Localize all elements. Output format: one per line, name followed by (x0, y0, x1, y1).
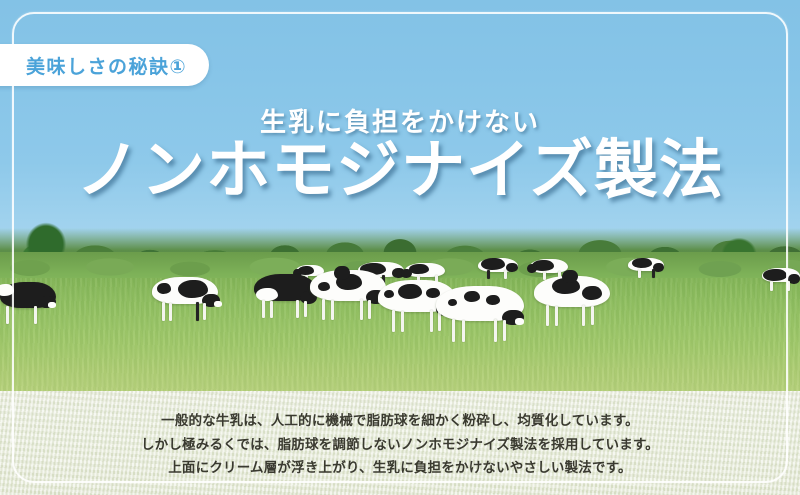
cow-patch (409, 264, 429, 274)
cow-leg (296, 300, 299, 318)
cow-leg (203, 303, 206, 320)
cow-snout (515, 318, 524, 325)
cow-leg (6, 306, 9, 324)
cow (628, 258, 664, 279)
cow-head (506, 263, 518, 272)
caption-line-2: しかし極みるくでは、脂肪球を調節しないノンホモジナイズ製法を採用しています。 (141, 435, 659, 456)
cow-leg (322, 299, 325, 320)
cow-leg (331, 300, 334, 320)
cow-leg (652, 269, 655, 278)
caption-line-1: 一般的な牛乳は、人工的に機械で脂肪球を細かく粉砕し、均質化しています。 (161, 411, 639, 432)
cow-patch (582, 286, 602, 300)
cow-leg (360, 299, 363, 320)
cow-leg (262, 300, 265, 318)
cow-leg (555, 306, 558, 326)
cow-patch (157, 283, 171, 294)
cow (436, 286, 524, 342)
cow-leg (162, 302, 165, 321)
secret-badge: 美味しさの秘訣① (0, 44, 209, 86)
cow-leg (452, 319, 455, 342)
cow-leg (169, 303, 172, 321)
cow-snout (48, 302, 56, 308)
cow (762, 268, 800, 291)
cow (534, 276, 610, 326)
cow-patch (256, 288, 278, 301)
cow-patch (448, 299, 457, 306)
cow-head (401, 269, 412, 278)
promo-banner: 一般的な牛乳は、人工的に機械で脂肪球を細かく粉砕し、均質化しています。 しかし極… (0, 0, 800, 495)
cow-leg (503, 320, 506, 341)
caption-panel: 一般的な牛乳は、人工的に機械で脂肪球を細かく粉砕し、均質化しています。 しかし極… (0, 391, 800, 495)
cow (310, 270, 386, 320)
cow-leg (591, 306, 594, 325)
cow-leg (430, 310, 433, 332)
cow-leg (34, 306, 37, 324)
cow (254, 274, 316, 318)
cow-head (562, 270, 578, 283)
cow-leg (401, 311, 404, 332)
cow-patch (486, 295, 500, 305)
cow-head (527, 264, 537, 273)
cow-head (334, 266, 350, 280)
cow-leg (392, 310, 395, 332)
cow-leg (270, 301, 273, 318)
cow-leg (487, 270, 490, 279)
cow-patch (384, 290, 394, 298)
cow-leg (196, 302, 199, 321)
cow-leg (368, 300, 371, 319)
cow-patch (318, 282, 330, 291)
page-title: ノンホモジナイズ製法 (0, 136, 800, 205)
cow-patch (481, 258, 505, 270)
cow-patch (632, 258, 652, 268)
cow-leg (582, 305, 585, 326)
cow-leg (787, 281, 790, 291)
cow-leg (770, 281, 773, 291)
cow (0, 282, 56, 324)
cow-leg (504, 270, 507, 279)
cow-leg (462, 320, 465, 342)
cow-leg (638, 269, 641, 278)
cow-leg (304, 301, 307, 317)
cow-leg (546, 305, 549, 326)
cow-patch (464, 291, 480, 302)
caption-line-3: 上面にクリーム層が浮き上がり、生乳に負担をかけないやさしい製法です。 (168, 458, 632, 479)
secret-badge-label: 美味しさの秘訣① (26, 52, 187, 79)
cow-leg (494, 319, 497, 342)
cow-snout (214, 301, 222, 307)
cow (478, 258, 518, 280)
cow-patch (398, 284, 422, 299)
cow (152, 277, 218, 321)
cow-patch (763, 269, 787, 281)
